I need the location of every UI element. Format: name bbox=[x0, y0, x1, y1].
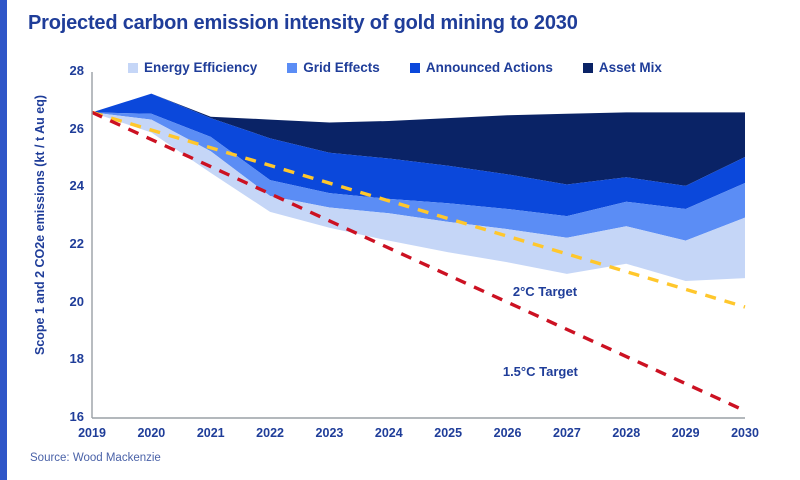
x-tick-label: 2022 bbox=[240, 426, 300, 440]
y-tick-label: 20 bbox=[54, 294, 84, 309]
y-tick-label: 16 bbox=[54, 409, 84, 424]
y-tick-label: 18 bbox=[54, 351, 84, 366]
annotation-2c-target: 2°C Target bbox=[513, 284, 577, 299]
x-tick-label: 2021 bbox=[181, 426, 241, 440]
y-axis-title: Scope 1 and 2 CO2e emissions (kt / t Au … bbox=[33, 60, 47, 390]
x-tick-label: 2020 bbox=[121, 426, 181, 440]
x-tick-label: 2028 bbox=[596, 426, 656, 440]
source-caption: Source: Wood Mackenzie bbox=[30, 452, 161, 464]
x-tick-label: 2023 bbox=[299, 426, 359, 440]
y-tick-label: 26 bbox=[54, 121, 84, 136]
x-tick-label: 2019 bbox=[62, 426, 122, 440]
y-tick-label: 24 bbox=[54, 178, 84, 193]
annotation-1-5c-target: 1.5°C Target bbox=[503, 364, 578, 379]
y-tick-label: 22 bbox=[54, 236, 84, 251]
y-tick-label: 28 bbox=[54, 63, 84, 78]
x-tick-label: 2024 bbox=[359, 426, 419, 440]
x-tick-label: 2025 bbox=[418, 426, 478, 440]
x-tick-label: 2027 bbox=[537, 426, 597, 440]
x-tick-label: 2029 bbox=[656, 426, 716, 440]
chart-root: Projected carbon emission intensity of g… bbox=[0, 0, 800, 480]
plot-svg bbox=[0, 0, 800, 480]
plot-area: Scope 1 and 2 CO2e emissions (kt / t Au … bbox=[0, 0, 800, 480]
x-tick-label: 2030 bbox=[715, 426, 775, 440]
x-tick-label: 2026 bbox=[478, 426, 538, 440]
